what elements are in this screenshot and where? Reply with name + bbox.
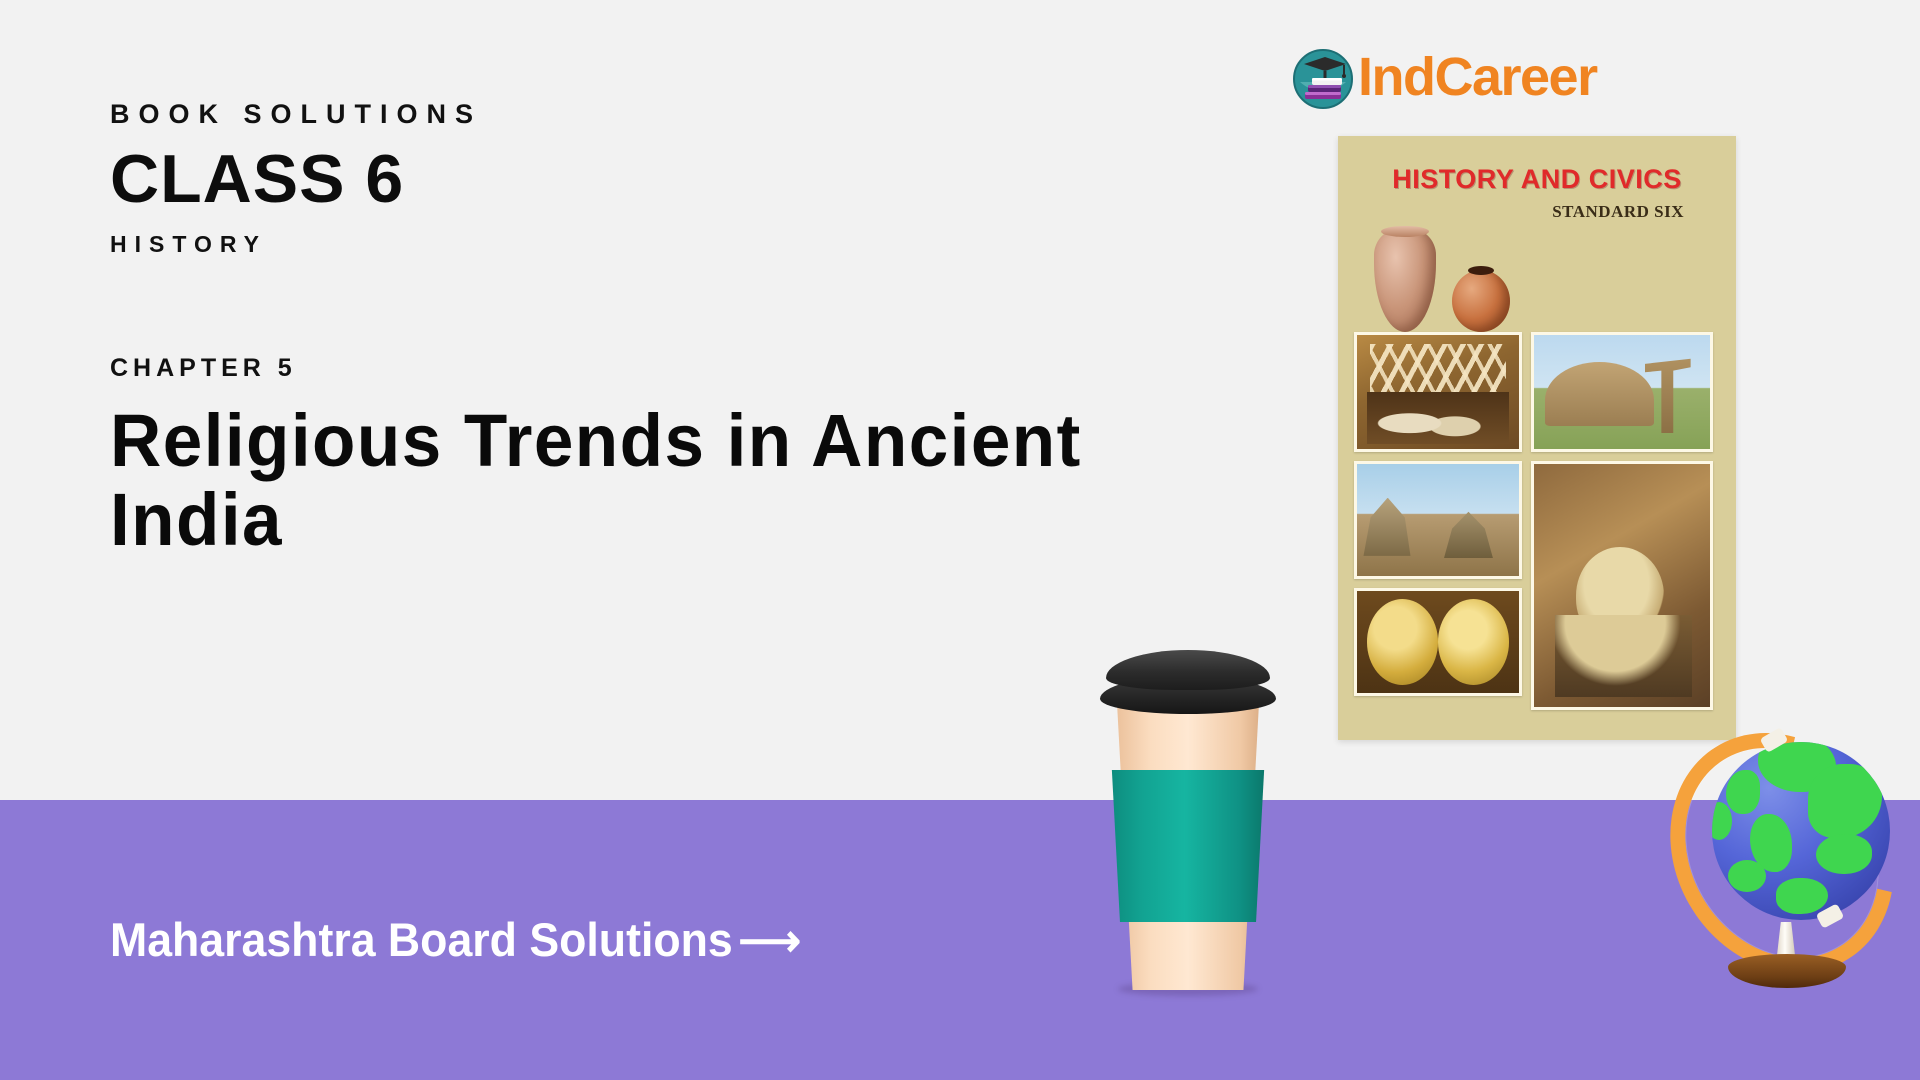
chapter-number-label: CHAPTER 5 [110, 354, 1290, 383]
indcareer-logo[interactable]: IndCareer [1292, 48, 1597, 110]
textbook-cover-image: HISTORY AND CIVICS STANDARD SIX [1338, 136, 1736, 740]
book-cover-inner: HISTORY AND CIVICS STANDARD SIX [1352, 150, 1722, 722]
class-heading: CLASS 6 [110, 144, 1290, 215]
coffee-cup-sleeve [1107, 770, 1269, 922]
banner-stage: BOOK SOLUTIONS CLASS 6 HISTORY CHAPTER 5… [0, 0, 1920, 1080]
indcareer-wordmark: IndCareer [1358, 50, 1597, 104]
globe-landmass [1808, 764, 1882, 838]
globe-landmass [1816, 834, 1872, 874]
book-cover-photo-row [1354, 332, 1720, 452]
footer-link-label: Maharashtra Board Solutions [110, 912, 733, 967]
globe-landmass [1728, 860, 1766, 892]
globe-sphere [1712, 742, 1890, 920]
globe-landmass [1712, 802, 1732, 840]
ajanta-painting-photo [1531, 461, 1713, 710]
round-pot-icon [1452, 270, 1510, 332]
headline-column: BOOK SOLUTIONS CLASS 6 HISTORY CHAPTER 5… [110, 100, 1290, 559]
book-cover-photo-column [1354, 461, 1522, 710]
tall-pot-icon [1374, 228, 1436, 332]
arrow-right-icon: ⟶ [738, 917, 801, 963]
book-cover-photo-row [1354, 461, 1720, 710]
graduation-cap-books-icon [1292, 48, 1354, 110]
sanchi-stupa-photo [1531, 332, 1713, 452]
indus-seal-photo [1354, 332, 1522, 452]
globe-landmass [1776, 878, 1828, 914]
book-cover-photo-grid [1352, 332, 1722, 710]
book-cover-title: HISTORY AND CIVICS [1352, 164, 1722, 195]
book-cover-standard: STANDARD SIX [1352, 202, 1722, 222]
subject-label: HISTORY [110, 231, 1290, 258]
coffee-cup-illustration [1100, 650, 1276, 990]
book-cover-pottery-group [1352, 224, 1722, 332]
coffee-cup-lid-top [1106, 650, 1270, 690]
globe-landmass [1726, 770, 1760, 814]
globe-wooden-base [1728, 954, 1846, 988]
book-solutions-eyebrow: BOOK SOLUTIONS [110, 100, 1290, 130]
chapter-title: Religious Trends in Ancient India [110, 401, 1185, 559]
shore-temple-photo [1354, 461, 1522, 579]
chapter-block: CHAPTER 5 Religious Trends in Ancient In… [110, 354, 1290, 559]
maharashtra-board-solutions-link[interactable]: Maharashtra Board Solutions ⟶ [110, 912, 801, 967]
gold-coins-photo [1354, 588, 1522, 696]
globe-illustration [1672, 726, 1910, 1038]
